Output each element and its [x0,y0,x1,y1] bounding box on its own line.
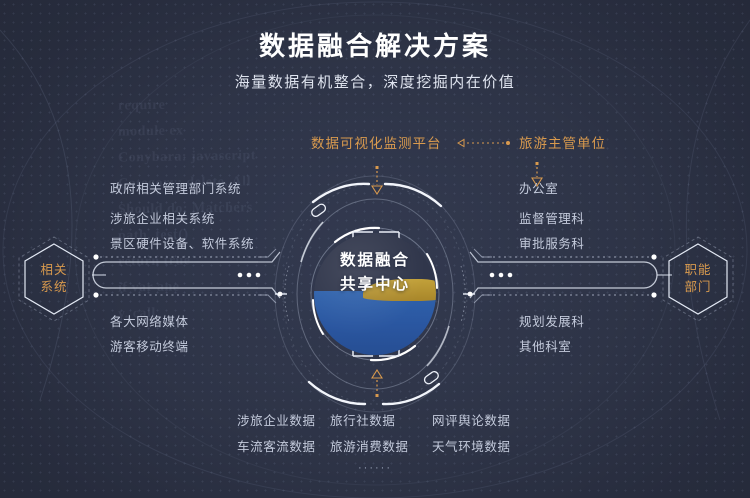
hexagon-functional-departments[interactable]: 职能 部门 [660,235,736,323]
code-line: if var ane [118,272,298,301]
left-item-1: 涉旅企业相关系统 [110,208,215,227]
bottom-item-c3r1: 网评舆论数据 [432,410,511,429]
label-visualization-platform: 数据可视化监测平台 [311,132,442,152]
right-item-4: 其他科室 [519,336,571,355]
right-item-1: 监督管理科 [519,208,585,227]
left-item-0: 政府相关管理部门系统 [110,178,241,197]
page-subtitle: 海量数据有机整合，深度挖掘内在价值 [0,71,750,92]
bottom-ellipsis: ······ [0,462,750,474]
code-line: require [118,90,298,119]
code-line: module ex [118,116,298,145]
right-item-0: 办公室 [519,178,558,197]
bottom-item-c2r1: 旅行社数据 [330,410,396,429]
bottom-item-c1r2: 车流客流数据 [237,436,316,455]
infographic-canvas: require module ex Conybara: javascript C… [0,0,750,498]
hexagon-right-label: 职能 部门 [684,262,711,296]
left-item-3: 各大网络媒体 [110,311,189,330]
dotted-left-arrow-icon [450,138,512,148]
right-item-2: 审批服务科 [519,233,585,252]
left-item-2: 景区硬件设备、软件系统 [110,233,254,252]
up-triangle-icon-center-bottom [370,368,384,398]
hexagon-right-line1: 职能 [684,262,711,279]
sphere-label-line1: 数据融合 [314,249,436,273]
code-line: Conybara: javascript [118,142,298,171]
hexagon-right-line2: 部门 [684,279,711,296]
sphere-label-line2: 共享中心 [314,273,436,297]
bottom-item-c3r2: 天气环境数据 [432,436,511,455]
hexagon-left-line1: 相关 [40,262,67,279]
hexagon-left-line2: 系统 [40,279,67,296]
sphere-label: 数据融合 共享中心 [314,249,436,297]
hexagon-related-systems[interactable]: 相关 系统 [16,235,92,323]
hexagon-left-label: 相关 系统 [40,262,67,296]
page-title: 数据融合解决方案 [0,26,750,63]
bottom-item-c1r1: 涉旅企业数据 [237,410,316,429]
right-item-3: 规划发展科 [519,311,585,330]
left-item-4: 游客移动终端 [110,336,189,355]
label-tourism-authority: 旅游主管单位 [519,132,606,152]
down-triangle-icon-center-top [370,166,384,196]
bottom-item-c2r2: 旅游消费数据 [330,436,409,455]
